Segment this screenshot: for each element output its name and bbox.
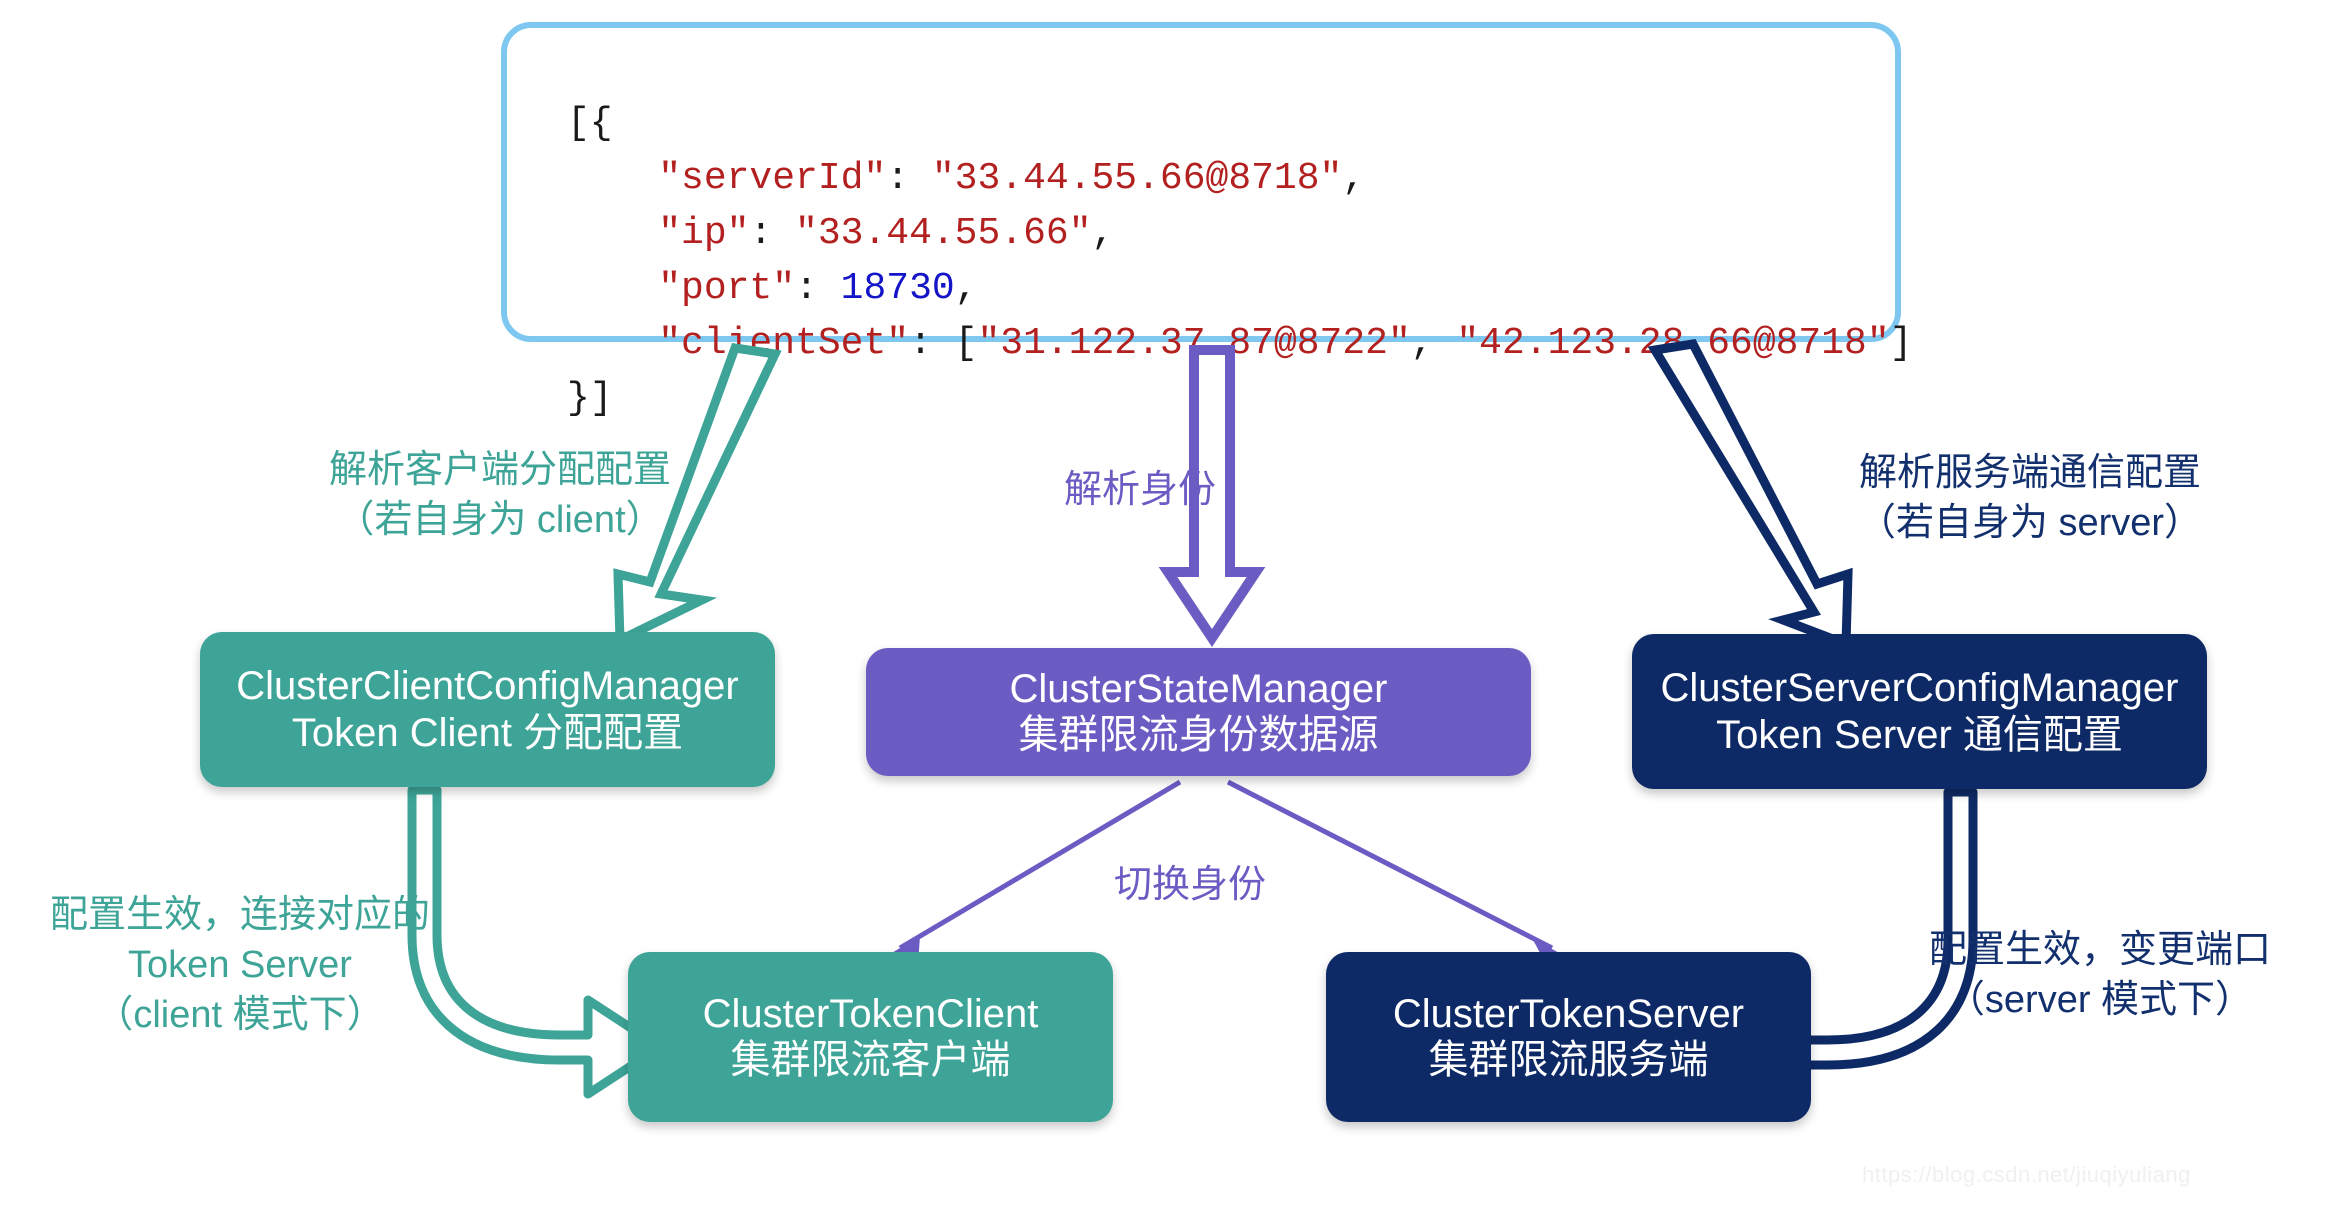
node-subtitle: 集群限流身份数据源 [1019, 712, 1379, 758]
json-token-num: 18730 [841, 267, 955, 310]
label-parse-server-config: 解析服务端通信配置 （若自身为 server） [1770, 448, 2290, 548]
node-title: ClusterTokenClient [703, 991, 1039, 1037]
diagram-canvas: [{ "serverId": "33.44.55.66@8718", "ip":… [0, 0, 2346, 1208]
node-cluster-client-config-manager[interactable]: ClusterClientConfigManager Token Client … [200, 632, 775, 787]
node-title: ClusterClientConfigManager [236, 663, 738, 709]
json-token-pun: : [749, 212, 795, 255]
node-cluster-state-manager[interactable]: ClusterStateManager 集群限流身份数据源 [866, 648, 1531, 776]
label-effect-client-mode: 配置生效，连接对应的 Token Server （client 模式下） [30, 890, 450, 1040]
json-token-str: "33.44.55.66" [795, 212, 1091, 255]
json-token-str: "31.122.37.87@8722" [977, 322, 1410, 365]
json-token-pun: , [1342, 157, 1365, 200]
json-token-str: "42.123.28.66@8718" [1456, 322, 1889, 365]
json-token-pun: }] [567, 377, 613, 420]
node-title: ClusterServerConfigManager [1660, 665, 2178, 711]
json-token-pun: , [955, 267, 978, 310]
json-token-pun: : [886, 157, 932, 200]
json-token-str: "33.44.55.66@8718" [932, 157, 1342, 200]
json-token-str: "clientSet" [658, 322, 909, 365]
node-subtitle: Token Client 分配配置 [292, 710, 683, 756]
node-subtitle: 集群限流服务端 [1429, 1037, 1709, 1083]
cluster-config-json-panel: [{ "serverId": "33.44.55.66@8718", "ip":… [501, 22, 1901, 342]
watermark: https://blog.csdn.net/jiuqiyuliang [1862, 1162, 2191, 1188]
json-token-pun: : [ [909, 322, 977, 365]
label-switch-identity: 切换身份 [1040, 860, 1340, 910]
node-cluster-server-config-manager[interactable]: ClusterServerConfigManager Token Server … [1632, 634, 2207, 789]
label-parse-identity: 解析身份 [1000, 465, 1280, 515]
json-token-pun: , [1411, 322, 1457, 365]
json-token-pun: ] [1890, 322, 1913, 365]
json-token-pun: : [795, 267, 841, 310]
json-token-pun: , [1092, 212, 1115, 255]
node-subtitle: Token Server 通信配置 [1716, 712, 2123, 758]
label-parse-client-config: 解析客户端分配配置 （若自身为 client） [245, 445, 755, 545]
json-token-str: "port" [658, 267, 795, 310]
json-token-str: "serverId" [658, 157, 886, 200]
node-subtitle: 集群限流客户端 [731, 1037, 1011, 1083]
cluster-config-json-code: [{ "serverId": "33.44.55.66@8718", "ip":… [567, 96, 1912, 427]
label-effect-server-mode: 配置生效，变更端口 （server 模式下） [1880, 925, 2320, 1025]
node-title: ClusterStateManager [1010, 666, 1388, 712]
node-cluster-token-client[interactable]: ClusterTokenClient 集群限流客户端 [628, 952, 1113, 1122]
node-cluster-token-server[interactable]: ClusterTokenServer 集群限流服务端 [1326, 952, 1811, 1122]
json-token-pun: [{ [567, 102, 613, 145]
json-token-str: "ip" [658, 212, 749, 255]
node-title: ClusterTokenServer [1393, 991, 1744, 1037]
